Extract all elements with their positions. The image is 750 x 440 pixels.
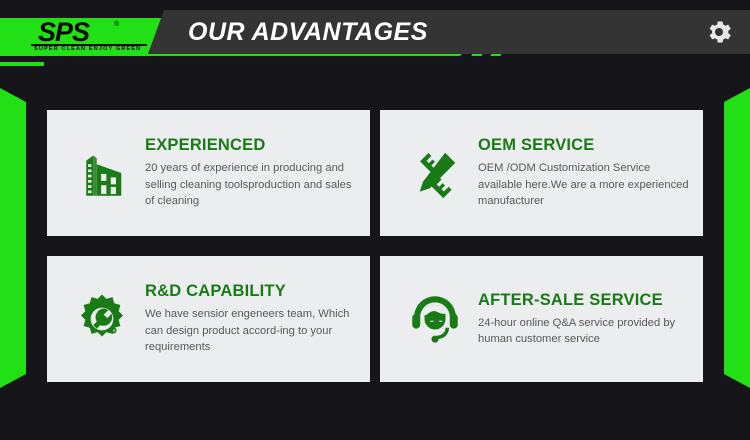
top-left-green-accent: [0, 62, 44, 66]
advantage-card-oem-service[interactable]: OEM SERVICE OEM /ODM Customization Servi…: [380, 110, 703, 236]
gear-icon[interactable]: [704, 17, 734, 47]
logo-tagline: SUPER CLEAN ENJOY GREEN: [34, 46, 141, 52]
card-description: 24-hour online Q&A service provided by h…: [478, 315, 689, 348]
card-text-block: AFTER-SALE SERVICE 24-hour online Q&A se…: [472, 291, 689, 348]
logo-registered-mark: ®: [114, 21, 119, 28]
card-text-block: OEM SERVICE OEM /ODM Customization Servi…: [472, 136, 689, 210]
card-title: EXPERIENCED: [145, 136, 356, 155]
card-description: We have sensior engeneers team, Which ca…: [145, 306, 356, 356]
pencil-ruler-icon: [398, 136, 472, 210]
card-description: 20 years of experience in producing and …: [145, 160, 356, 210]
gear-wrench-icon: [65, 282, 139, 356]
left-green-wedge: [0, 88, 26, 388]
advantage-card-after-sale-service[interactable]: AFTER-SALE SERVICE 24-hour online Q&A se…: [380, 256, 703, 382]
card-text-block: R&D CAPABILITY We have sensior engeneers…: [139, 282, 356, 356]
right-green-wedge: [724, 88, 750, 388]
header-title-bar: OUR ADVANTAGES: [148, 10, 750, 54]
logo-wordmark: SPS: [38, 20, 89, 44]
brand-logo[interactable]: SPS ® SUPER CLEAN ENJOY GREEN: [30, 20, 150, 54]
page-header: SPS ® SUPER CLEAN ENJOY GREEN OUR ADVANT…: [0, 0, 750, 72]
headset-agent-icon: [398, 282, 472, 356]
card-text-block: EXPERIENCED 20 years of experience in pr…: [139, 136, 356, 210]
advantage-card-experienced[interactable]: EXPERIENCED 20 years of experience in pr…: [47, 110, 370, 236]
card-title: R&D CAPABILITY: [145, 282, 356, 301]
advantages-grid: EXPERIENCED 20 years of experience in pr…: [47, 110, 703, 382]
advantage-card-rd-capability[interactable]: R&D CAPABILITY We have sensior engeneers…: [47, 256, 370, 382]
advantages-page: SPS ® SUPER CLEAN ENJOY GREEN OUR ADVANT…: [0, 0, 750, 440]
card-description: OEM /ODM Customization Service available…: [478, 160, 689, 210]
card-title: OEM SERVICE: [478, 136, 689, 155]
page-title: OUR ADVANTAGES: [188, 18, 428, 47]
card-title: AFTER-SALE SERVICE: [478, 291, 689, 310]
building-icon: [65, 136, 139, 210]
